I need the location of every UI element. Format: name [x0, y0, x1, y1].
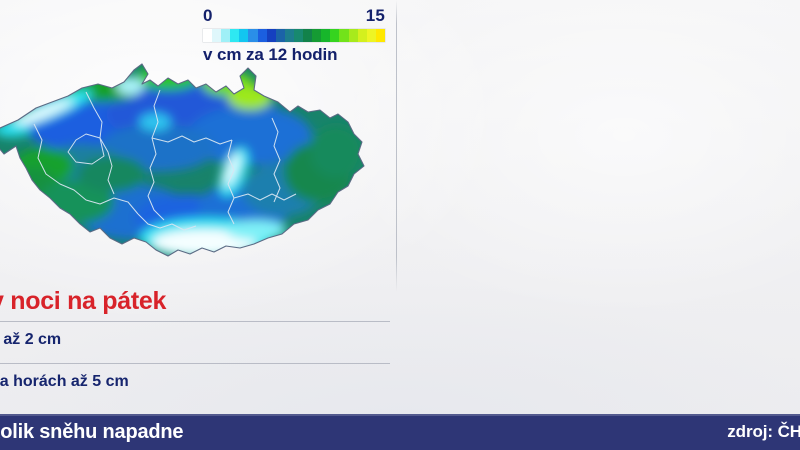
weather-graphic: 0 15 v cm za 12 hodin: [0, 0, 800, 450]
colorbar-band-6: [258, 29, 267, 42]
legend-left: 0 15 v cm za 12 hodin: [203, 6, 385, 65]
colorbar-band-0: [203, 29, 212, 42]
colorbar-band-14: [330, 29, 339, 42]
colorbar-band-12: [312, 29, 321, 42]
colorbar-band-19: [376, 29, 385, 42]
caption-left: v noci na pátek 0 až 2 cm na horách až 5…: [0, 286, 390, 400]
caption-left-title: v noci na pátek: [0, 286, 390, 316]
colorbar-band-15: [339, 29, 348, 42]
bottom-bar-title: Kolik sněhu napadne: [0, 421, 183, 444]
colorbar-band-17: [358, 29, 367, 42]
caption-left-line-1: 0 až 2 cm: [0, 322, 390, 358]
panel-right: 0 15 v cm za 12 hodin: [400, 0, 800, 414]
panel-left: 0 15 v cm za 12 hodin: [0, 0, 396, 414]
colorbar-band-4: [239, 29, 248, 42]
legend-left-colorbar: [203, 29, 385, 42]
bottom-bar-source: zdroj: ČHM: [727, 422, 800, 442]
colorbar-band-3: [230, 29, 239, 42]
colorbar-band-7: [267, 29, 276, 42]
legend-left-max: 15: [366, 6, 385, 28]
colorbar-band-10: [294, 29, 303, 42]
legend-left-min: 0: [203, 6, 213, 28]
caption-left-line-2: na horách až 5 cm: [0, 364, 390, 400]
colorbar-band-13: [321, 29, 330, 42]
colorbar-band-9: [285, 29, 294, 42]
bottom-bar: Kolik sněhu napadne zdroj: ČHM: [0, 414, 800, 450]
colorbar-band-1: [212, 29, 221, 42]
colorbar-band-18: [367, 29, 376, 42]
colorbar-band-16: [349, 29, 358, 42]
colorbar-band-5: [248, 29, 257, 42]
map-czechia-night: [0, 62, 382, 287]
legend-left-scale: 0 15: [203, 6, 385, 28]
colorbar-band-11: [303, 29, 312, 42]
panel-divider: [396, 0, 397, 292]
colorbar-band-8: [276, 29, 285, 42]
colorbar-band-2: [221, 29, 230, 42]
